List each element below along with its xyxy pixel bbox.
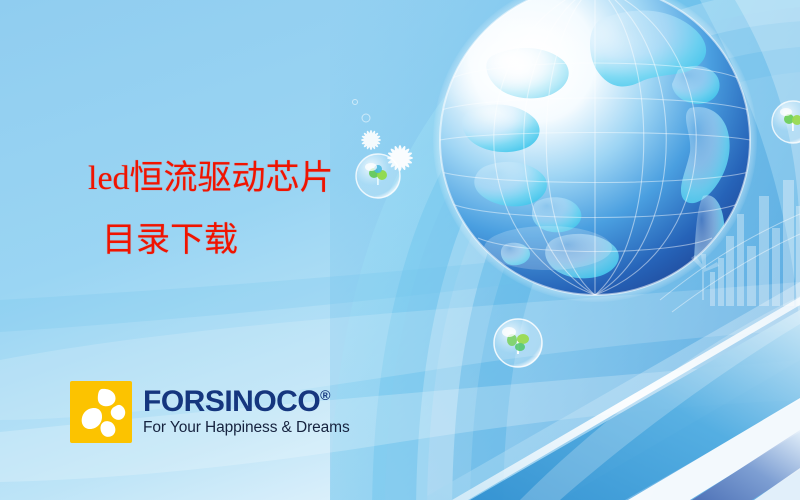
pinwheel-flower-icon [70,381,132,443]
slide-title: led恒流驱动芯片 目录下载 [88,162,508,258]
logo-tagline: For Your Happiness & Dreams [143,419,350,437]
presentation-slide: led恒流驱动芯片 目录下载 FORSINOCO® For Your Happi… [0,0,800,500]
logo-wordmark: FORSINOCO® [143,387,350,417]
registered-trademark-icon: ® [320,387,330,403]
title-line-1: led恒流驱动芯片 [88,162,508,196]
title-line-2: 目录下载 [102,224,508,258]
company-logo: FORSINOCO® For Your Happiness & Dreams [70,381,350,443]
logo-wordmark-text: FORSINOCO [143,385,320,418]
logo-text-block: FORSINOCO® For Your Happiness & Dreams [143,381,350,437]
forsinoco-logo-mark [70,381,132,443]
